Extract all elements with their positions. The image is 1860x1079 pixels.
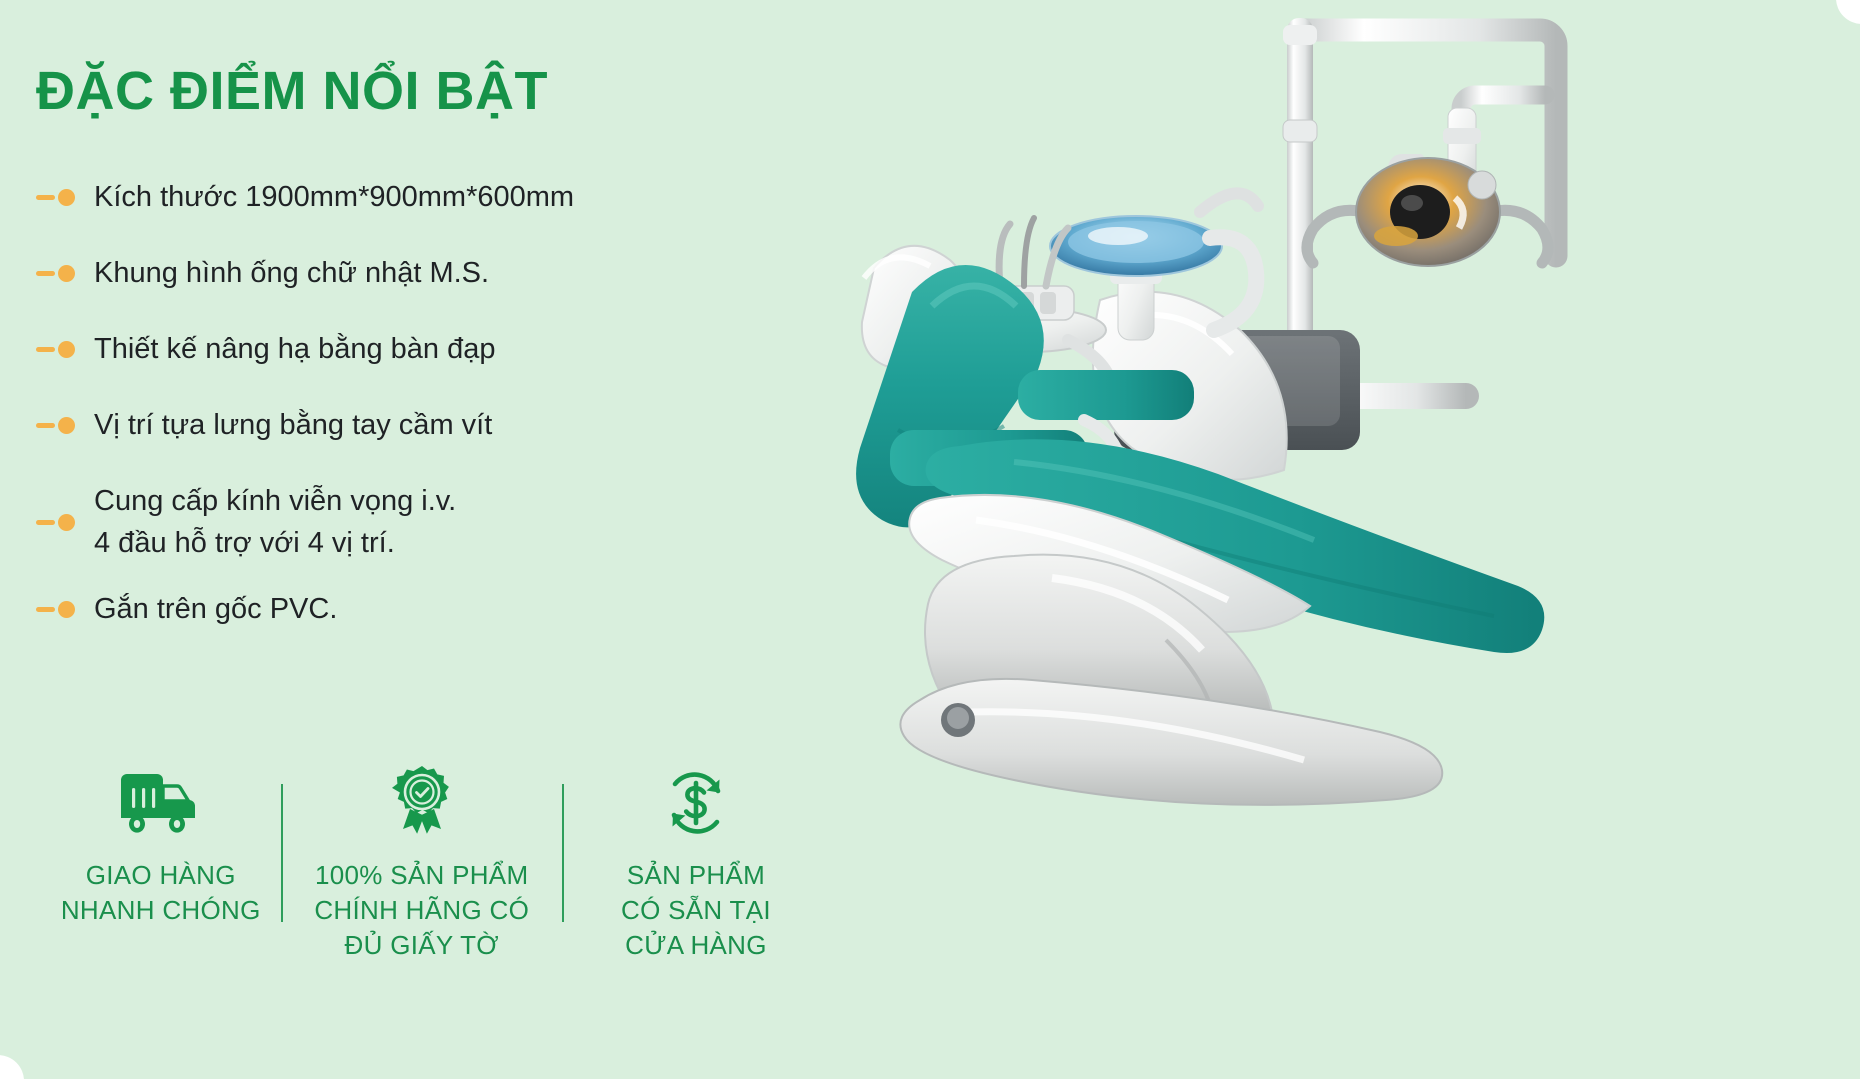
list-item: Thiết kế nâng hạ bằng bàn đạp [36, 324, 736, 374]
chair-floor-base [900, 679, 1442, 805]
bullet-marker-icon [36, 600, 80, 618]
promo-banner: ĐẶC ĐIỂM NỔI BẬT Kích thước 1900mm*900mm… [0, 0, 1860, 1079]
trust-badge-row: GIAO HÀNG NHANH CHÓNG 100% SẢ [40, 770, 830, 962]
list-item: Vị trí tựa lưng bằng tay cầm vít [36, 400, 736, 450]
badge-line: CỬA HÀNG [621, 928, 771, 963]
list-item: Gắn trên gốc PVC. [36, 584, 736, 634]
feature-text: Thiết kế nâng hạ bằng bàn đạp [94, 328, 496, 370]
badge-line: ĐỦ GIẤY TỜ [314, 928, 529, 963]
delivery-truck-icon [119, 770, 203, 836]
feature-list: Kích thước 1900mm*900mm*600mm Khung hình… [36, 172, 736, 660]
feature-line: Thiết kế nâng hạ bằng bàn đạp [94, 328, 496, 370]
list-item: Kích thước 1900mm*900mm*600mm [36, 172, 736, 222]
dental-operating-lamp [1307, 158, 1548, 266]
badge-line: NHANH CHÓNG [61, 893, 261, 928]
trust-badge-instock: SẢN PHẨM CÓ SẴN TẠI CỬA HÀNG [562, 770, 830, 962]
bullet-marker-icon [36, 340, 80, 358]
feature-line: Kích thước 1900mm*900mm*600mm [94, 176, 574, 218]
feature-line: Gắn trên gốc PVC. [94, 588, 337, 630]
feature-text: Khung hình ống chữ nhật M.S. [94, 252, 489, 294]
content-panel: ĐẶC ĐIỂM NỔI BẬT Kích thước 1900mm*900mm… [0, 0, 900, 1079]
badge-line: CHÍNH HÃNG CÓ [314, 893, 529, 928]
bullet-marker-icon [36, 188, 80, 206]
feature-text: Vị trí tựa lưng bằng tay cầm vít [94, 404, 492, 446]
bullet-marker-icon [36, 264, 80, 282]
badge-line: GIAO HÀNG [61, 858, 261, 893]
trust-badge-label: 100% SẢN PHẨM CHÍNH HÃNG CÓ ĐỦ GIẤY TỜ [314, 858, 529, 962]
bullet-marker-icon [36, 513, 80, 531]
feature-text: Cung cấp kính viễn vọng i.v. 4 đầu hỗ tr… [94, 480, 456, 564]
feature-text: Gắn trên gốc PVC. [94, 588, 337, 630]
feature-line: Vị trí tựa lưng bằng tay cầm vít [94, 404, 492, 446]
feature-line: Cung cấp kính viễn vọng i.v. [94, 480, 456, 522]
feature-line: 4 đầu hỗ trợ với 4 vị trí. [94, 522, 456, 564]
list-item: Cung cấp kính viễn vọng i.v. 4 đầu hỗ tr… [36, 476, 736, 568]
list-item: Khung hình ống chữ nhật M.S. [36, 248, 736, 298]
award-ribbon-icon [387, 770, 457, 836]
money-refresh-icon [661, 770, 731, 836]
feature-text: Kích thước 1900mm*900mm*600mm [94, 176, 574, 218]
page-title: ĐẶC ĐIỂM NỔI BẬT [36, 62, 548, 121]
feature-line: Khung hình ống chữ nhật M.S. [94, 252, 489, 294]
trust-badge-delivery: GIAO HÀNG NHANH CHÓNG [40, 770, 281, 928]
product-image [800, 0, 1860, 1000]
badge-line: SẢN PHẨM [621, 858, 771, 893]
badge-line: CÓ SẴN TẠI [621, 893, 771, 928]
badge-line: 100% SẢN PHẨM [314, 858, 529, 893]
trust-badge-label: GIAO HÀNG NHANH CHÓNG [61, 858, 261, 928]
trust-badge-authentic: 100% SẢN PHẨM CHÍNH HÃNG CÓ ĐỦ GIẤY TỜ [281, 770, 561, 962]
bullet-marker-icon [36, 416, 80, 434]
trust-badge-label: SẢN PHẨM CÓ SẴN TẠI CỬA HÀNG [621, 858, 771, 962]
